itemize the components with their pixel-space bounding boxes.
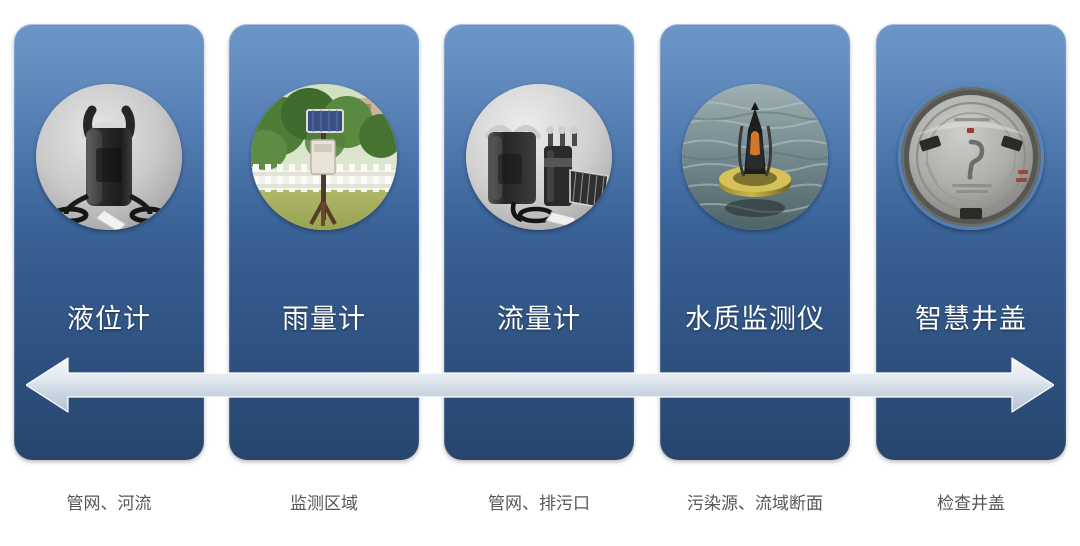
water-quality-buoy-photo: [682, 84, 828, 230]
device-card-smart-manhole-cover[interactable]: 智慧井盖: [876, 24, 1066, 460]
device-card-flow-meter[interactable]: 流量计: [444, 24, 634, 460]
caption-flow-meter: 管网、排污口: [444, 492, 634, 516]
card-label: 液位计: [14, 302, 204, 336]
diagram-canvas: 液位计: [0, 0, 1080, 546]
rain-gauge-photo: [251, 84, 397, 230]
card-label: 智慧井盖: [876, 302, 1066, 336]
card-label: 雨量计: [229, 302, 419, 336]
flow-meter-photo: [466, 84, 612, 230]
caption-level-gauge: 管网、河流: [14, 492, 204, 516]
card-label: 水质监测仪: [660, 302, 850, 336]
caption-smart-manhole-cover: 检查井盖: [876, 492, 1066, 516]
caption-rain-gauge: 监测区域: [229, 492, 419, 516]
device-card-level-gauge[interactable]: 液位计: [14, 24, 204, 460]
smart-manhole-cover-photo: [898, 84, 1044, 230]
device-card-rain-gauge[interactable]: 雨量计: [229, 24, 419, 460]
device-card-water-quality-monitor[interactable]: 水质监测仪: [660, 24, 850, 460]
card-label: 流量计: [444, 302, 634, 336]
caption-water-quality-monitor: 污染源、流域断面: [655, 492, 855, 516]
level-gauge-photo: [36, 84, 182, 230]
